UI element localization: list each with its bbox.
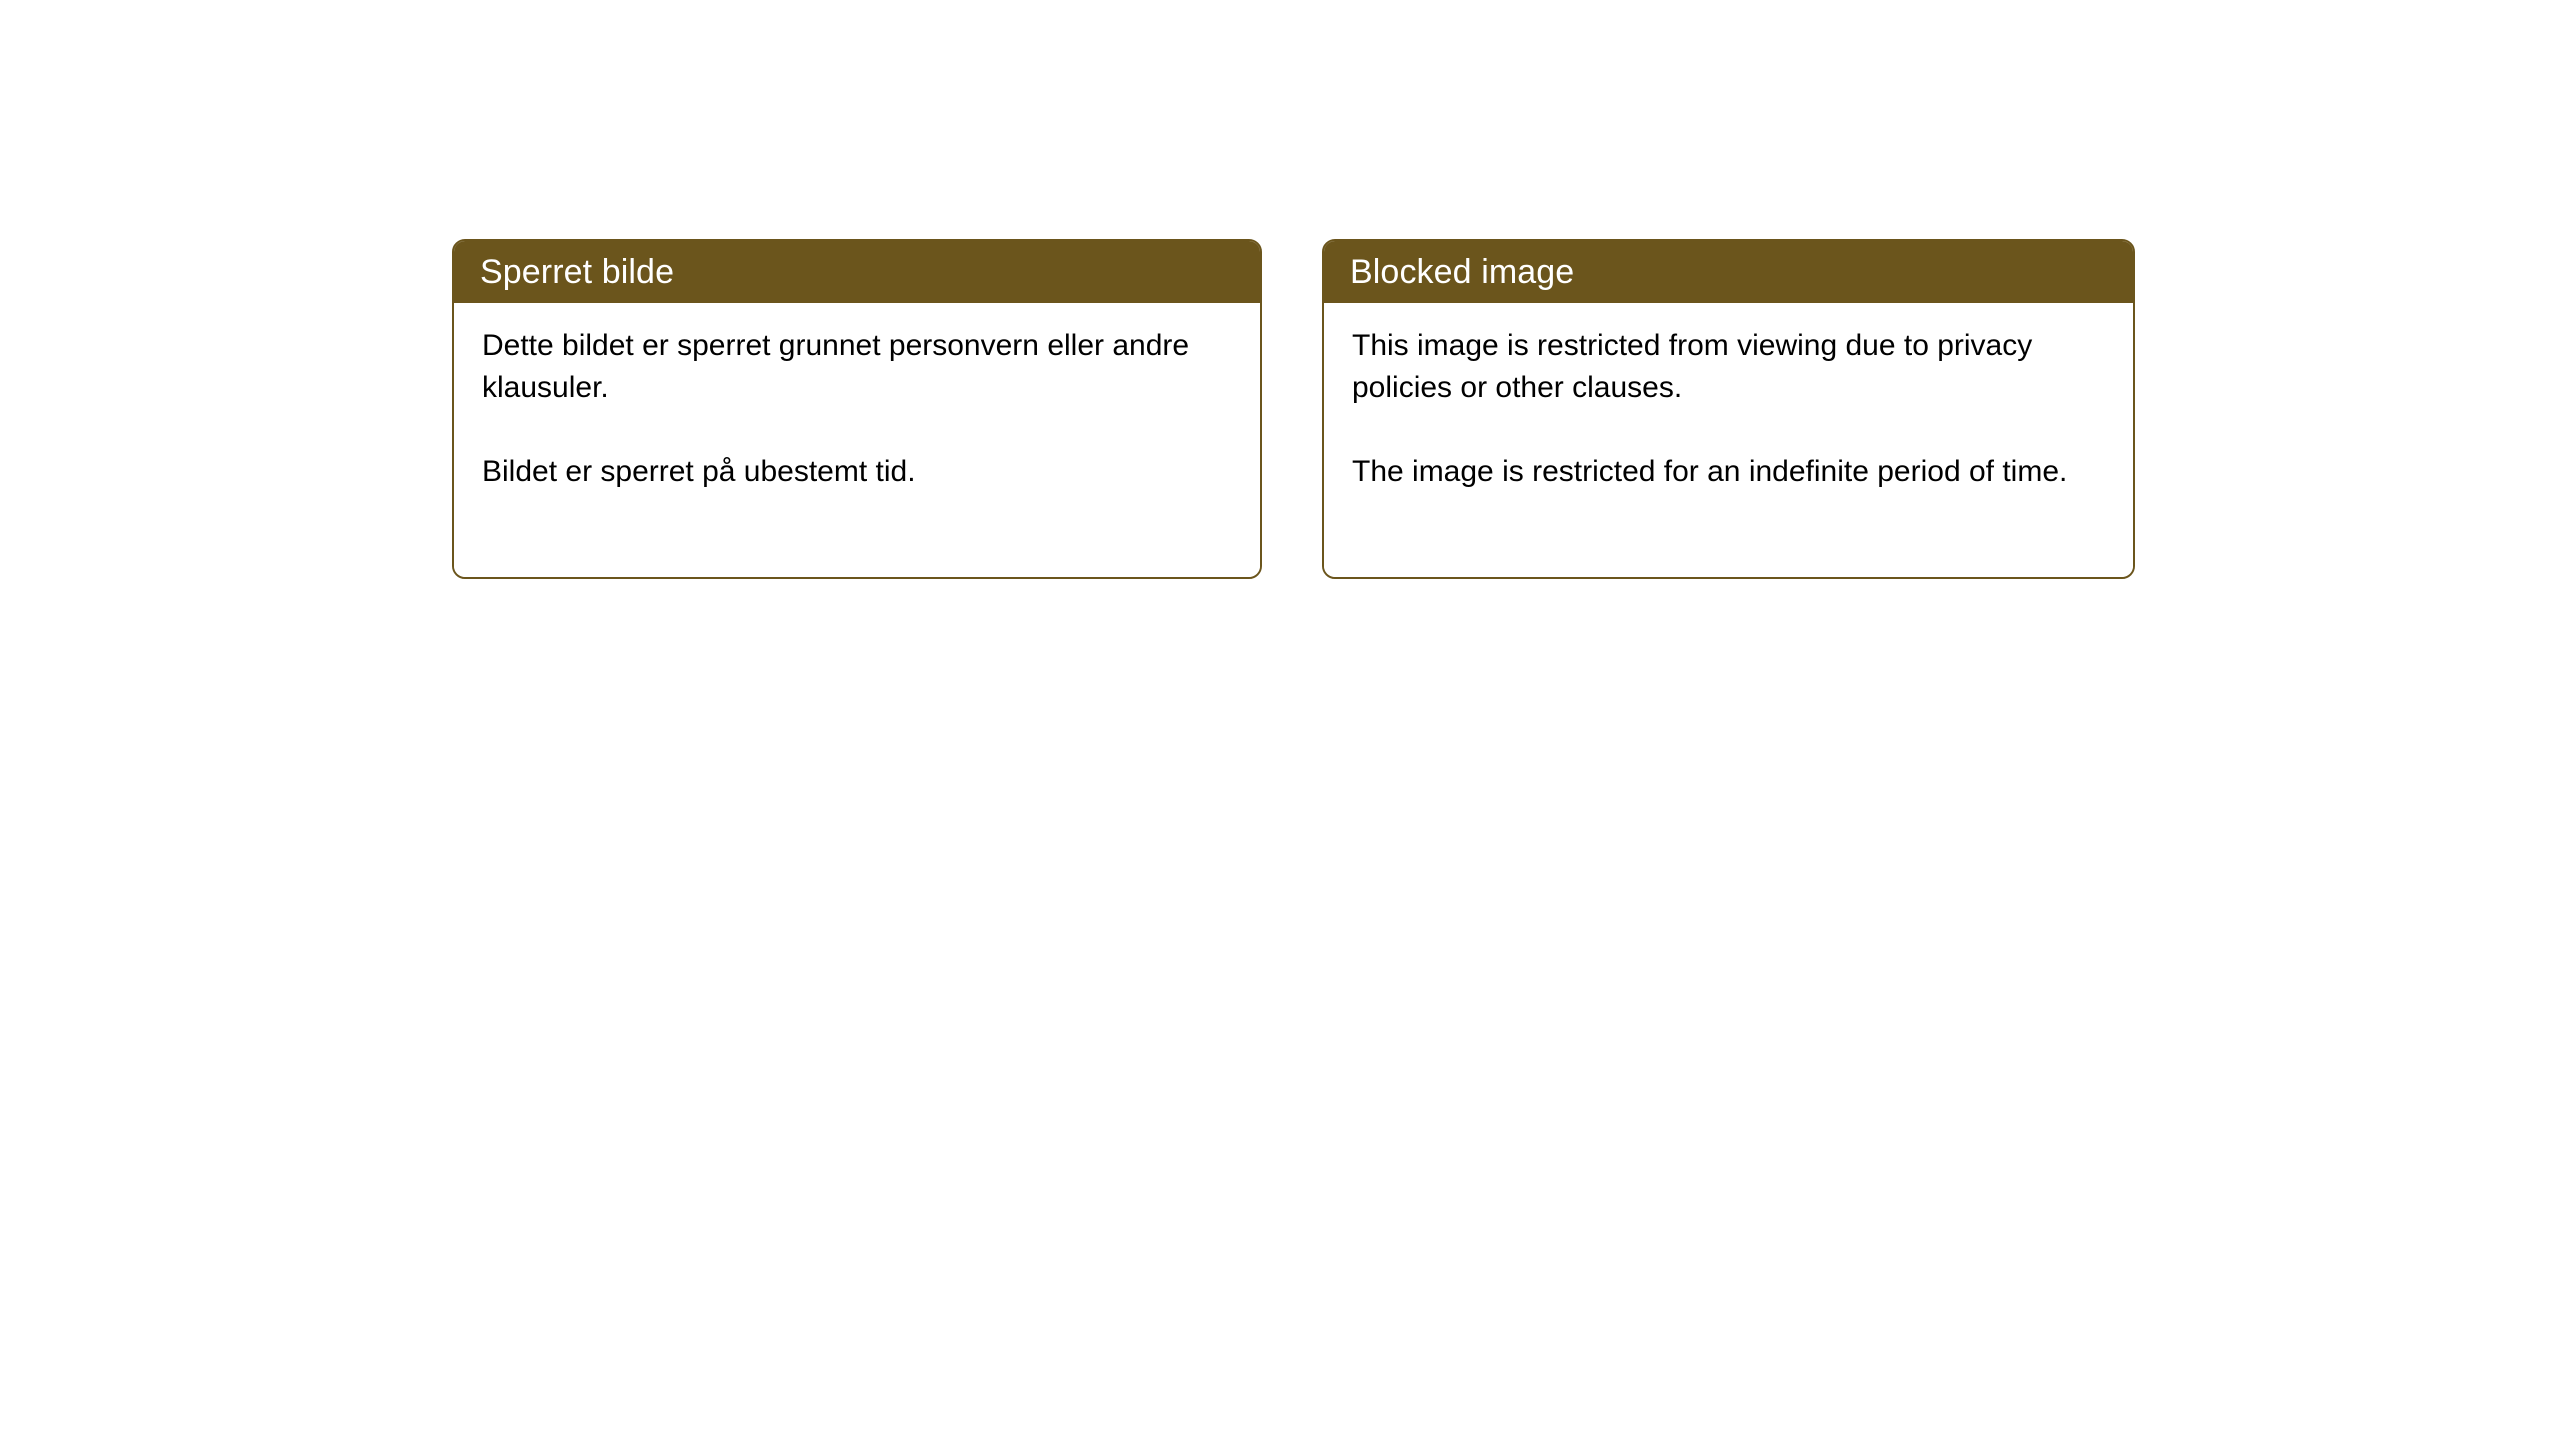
card-paragraph-duration-norwegian: Bildet er sperret på ubestemt tid. [482,451,1234,493]
card-paragraph-reason-english: This image is restricted from viewing du… [1352,325,2107,409]
card-paragraph-reason-norwegian: Dette bildet er sperret grunnet personve… [482,325,1234,409]
card-title-norwegian: Sperret bilde [480,255,674,289]
card-paragraph-duration-english: The image is restricted for an indefinit… [1352,451,2107,493]
blocked-image-card-english: Blocked image This image is restricted f… [1322,239,2135,579]
card-body-norwegian: Dette bildet er sperret grunnet personve… [454,303,1260,577]
card-title-english: Blocked image [1350,255,1574,289]
blocked-image-notices: Sperret bilde Dette bildet er sperret gr… [452,239,2135,579]
card-header-english: Blocked image [1324,241,2133,303]
card-header-norwegian: Sperret bilde [454,241,1260,303]
blocked-image-card-norwegian: Sperret bilde Dette bildet er sperret gr… [452,239,1262,579]
page-canvas: Sperret bilde Dette bildet er sperret gr… [0,0,2560,1440]
card-body-english: This image is restricted from viewing du… [1324,303,2133,577]
